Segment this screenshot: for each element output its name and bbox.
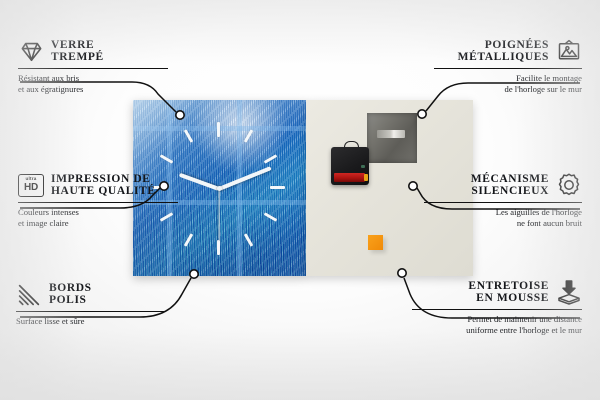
foam-spacer-icon: [556, 279, 582, 305]
callout-divider: [412, 309, 582, 310]
picture-hanger-icon: [556, 38, 582, 64]
diamond-icon: [18, 38, 44, 64]
callout-divider: [424, 202, 582, 203]
metal-hanger-plate: [367, 113, 417, 163]
infographic-canvas: VERRE TREMPÉ Résistant aux bris et aux é…: [0, 0, 600, 400]
callout-title: BORDS POLIS: [49, 282, 92, 307]
hour-marker: [217, 122, 220, 137]
hour-marker: [270, 186, 285, 189]
callout-subtitle: Surface lisse et sûre: [16, 316, 166, 326]
hour-marker: [217, 240, 220, 255]
callout-subtitle: Couleurs intenses et image claire: [18, 207, 178, 228]
callout-title: IMPRESSION DE HAUTE QUALITÉ: [51, 173, 156, 198]
callout-impression-haute-qualite[interactable]: ultra HD IMPRESSION DE HAUTE QUALITÉ Cou…: [18, 172, 178, 228]
callout-divider: [18, 202, 178, 203]
product-photo: [133, 100, 473, 276]
mechanism-contact: [361, 165, 365, 168]
callout-divider: [16, 311, 166, 312]
callout-bords-polis[interactable]: BORDS POLIS Surface lisse et sûre: [16, 281, 166, 327]
callout-subtitle: Les aiguilles de l'horloge ne font aucun…: [424, 207, 582, 228]
ultra-hd-icon-main-label: HD: [24, 183, 38, 193]
mechanism-hook-icon: [344, 141, 359, 150]
callout-divider: [18, 68, 168, 69]
callout-title: ENTRETOISE EN MOUSSE: [468, 280, 549, 305]
callout-header: ultra HD IMPRESSION DE HAUTE QUALITÉ: [18, 172, 178, 198]
callout-subtitle: Permet de maintenir une distance uniform…: [412, 314, 582, 335]
callout-title: POIGNÉES MÉTALLIQUES: [458, 39, 549, 64]
callout-header: MÉCANISME SILENCIEUX: [424, 172, 582, 198]
callout-header: ENTRETOISE EN MOUSSE: [412, 279, 582, 305]
callout-subtitle: Facilite le montage de l'horloge sur le …: [434, 73, 582, 94]
polished-edges-icon: [16, 281, 42, 307]
foam-spacer: [368, 235, 383, 250]
gear-icon: [556, 172, 582, 198]
callout-header: BORDS POLIS: [16, 281, 166, 307]
ultra-hd-icon: ultra HD: [18, 172, 44, 198]
callout-mecanisme-silencieux[interactable]: MÉCANISME SILENCIEUX Les aiguilles de l'…: [424, 172, 582, 228]
callout-divider: [434, 68, 582, 69]
battery: [334, 173, 365, 182]
clock-mechanism: [331, 147, 369, 185]
hand-center-cap: [217, 186, 222, 191]
callout-header: VERRE TREMPÉ: [18, 38, 168, 64]
callout-poignees-metalliques[interactable]: POIGNÉES MÉTALLIQUES Facilite le montage…: [434, 38, 582, 94]
callout-title: VERRE TREMPÉ: [51, 39, 104, 64]
callout-entretoise-en-mousse[interactable]: ENTRETOISE EN MOUSSE Permet de maintenir…: [412, 279, 582, 335]
callout-title: MÉCANISME SILENCIEUX: [471, 173, 549, 198]
callout-subtitle: Résistant aux bris et aux égratignures: [18, 73, 168, 94]
callout-header: POIGNÉES MÉTALLIQUES: [434, 38, 582, 64]
callout-verre-trempe[interactable]: VERRE TREMPÉ Résistant aux bris et aux é…: [18, 38, 168, 94]
second-hand: [218, 189, 219, 241]
